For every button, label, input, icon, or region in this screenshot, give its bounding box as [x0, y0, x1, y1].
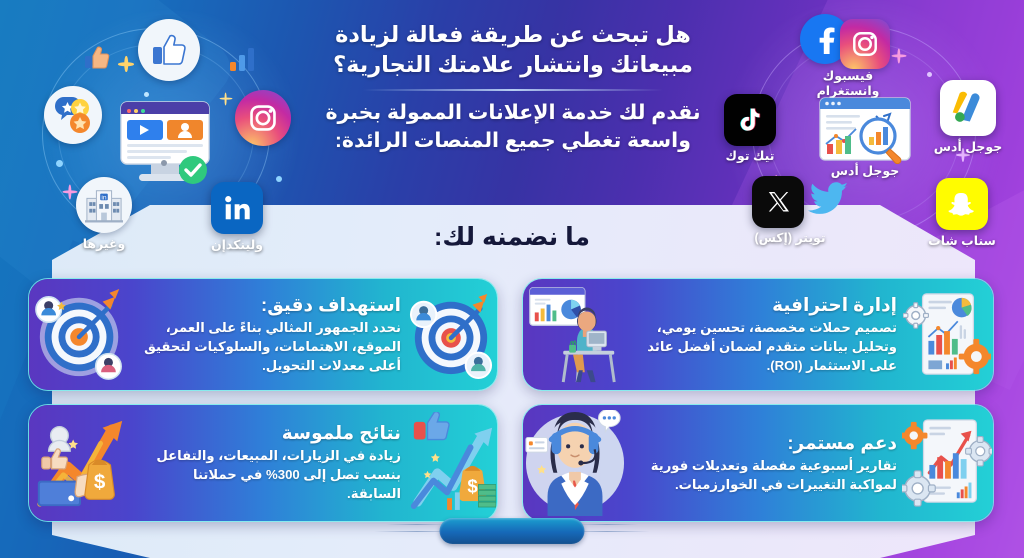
platform-node-like	[138, 19, 200, 81]
card-text-block: استهداف دقيق: نحدد الجمهور المثالي بناءً…	[133, 292, 405, 378]
browser-analytics-icon	[818, 96, 912, 164]
bottom-pill-decoration	[440, 518, 585, 544]
decor-line	[386, 524, 448, 526]
card-text-block: نتائج ملموسة زيادة في الزيارات، المبيعات…	[133, 420, 405, 506]
headline-line-2: مبيعاتك وانتشار علامتك التجارية؟	[318, 50, 708, 80]
analyst-desk-icon	[523, 284, 627, 386]
platform-node-like-small	[83, 44, 111, 70]
platform-label: جوجل أدس	[934, 140, 1002, 155]
guarantee-card-support[interactable]: دعم مستمر: تقارير أسبوعية مفصلة وتعديلات…	[522, 404, 994, 522]
guarantee-card-targeting[interactable]: استهداف دقيق: نحدد الجمهور المثالي بناءً…	[28, 278, 498, 391]
twitter-bird-icon	[808, 178, 850, 216]
card-title: إدارة احترافية	[633, 294, 897, 316]
platform-label: تيك توك	[726, 149, 775, 164]
platform-label: فيسبوك وانستغرام	[817, 69, 880, 98]
page-subtitle: نقدم لك خدمة الإعلانات الممولة بخبرة واس…	[318, 99, 708, 156]
platform-node-google-ads-tile: جوجل أدس	[940, 80, 996, 136]
platform-node-analytics	[228, 42, 262, 72]
divider	[363, 89, 663, 91]
growth-thumbsup-money-icon: $	[405, 412, 497, 514]
page-title: هل تبحث عن طريقة فعالة لزيادة مبيعاتك وا…	[318, 20, 708, 80]
bar-chart-icon	[228, 42, 262, 72]
platform-node-reviews	[44, 86, 102, 144]
card-body: تقارير أسبوعية مفصلة وتعديلات فورية لموا…	[633, 457, 897, 495]
headline-line-1: هل تبحث عن طريقة فعالة لزيادة	[318, 20, 708, 50]
growth-hand-money-icon: $	[29, 410, 133, 516]
svg-text:in: in	[101, 194, 106, 201]
platform-label-line-1: فيسبوك	[817, 69, 880, 84]
thumbs-up-icon	[138, 19, 200, 81]
decor-line	[576, 524, 638, 526]
star-reviews-icon	[44, 86, 102, 144]
svg-text:$: $	[467, 475, 478, 496]
google-ads-icon	[940, 80, 996, 136]
report-gears-icon	[901, 286, 993, 384]
x-icon	[752, 176, 804, 228]
instagram-icon	[235, 90, 291, 146]
thumbs-up-icon	[83, 44, 111, 70]
report-growth-gears-icon	[901, 412, 993, 514]
section-title: ما نضمنه لك:	[0, 222, 1024, 252]
platform-node-tiktok: تيك توك	[724, 94, 776, 146]
platform-node-instagram	[235, 90, 291, 146]
card-title: نتائج ملموسة	[139, 422, 401, 444]
platform-node-google-ads-browser: جوجل أدس	[818, 96, 912, 164]
card-body: زيادة في الزيارات، المبيعات، والتفاعل بن…	[139, 447, 401, 504]
target-arrow-audience-icon	[29, 284, 133, 386]
card-text-block: إدارة احترافية تصميم حملات مخصصة، تحسين …	[627, 292, 901, 378]
guarantee-card-results[interactable]: $ نتائج ملموسة زيادة في الزيارات، المبيع…	[28, 404, 498, 522]
instagram-icon	[840, 19, 890, 69]
poster-canvas: هل تبحث عن طريقة فعالة لزيادة مبيعاتك وا…	[0, 0, 1024, 558]
card-title: دعم مستمر:	[633, 432, 897, 454]
subheadline-line-2: واسعة تغطي جميع المنصات الرائدة:	[318, 127, 708, 155]
note-card-icon	[526, 438, 548, 453]
target-arrow-audience-icon	[405, 287, 497, 383]
tiktok-icon	[724, 94, 776, 146]
headset-agent-icon	[523, 410, 627, 516]
card-body: نحدد الجمهور المثالي بناءً على العمر، ال…	[139, 319, 401, 376]
guarantee-card-management[interactable]: إدارة احترافية تصميم حملات مخصصة، تحسين …	[522, 278, 994, 391]
svg-text:$: $	[94, 471, 106, 494]
card-text-block: دعم مستمر: تقارير أسبوعية مفصلة وتعديلات…	[627, 430, 901, 497]
card-body: تصميم حملات مخصصة، تحسين يومي، وتحليل بي…	[633, 319, 897, 376]
subheadline-line-1: نقدم لك خدمة الإعلانات الممولة بخبرة	[318, 99, 708, 127]
headline-block: هل تبحث عن طريقة فعالة لزيادة مبيعاتك وا…	[318, 20, 708, 155]
card-title: استهداف دقيق:	[139, 294, 401, 316]
platform-node-facebook-instagram: فيسبوك وانستغرام	[800, 14, 904, 66]
